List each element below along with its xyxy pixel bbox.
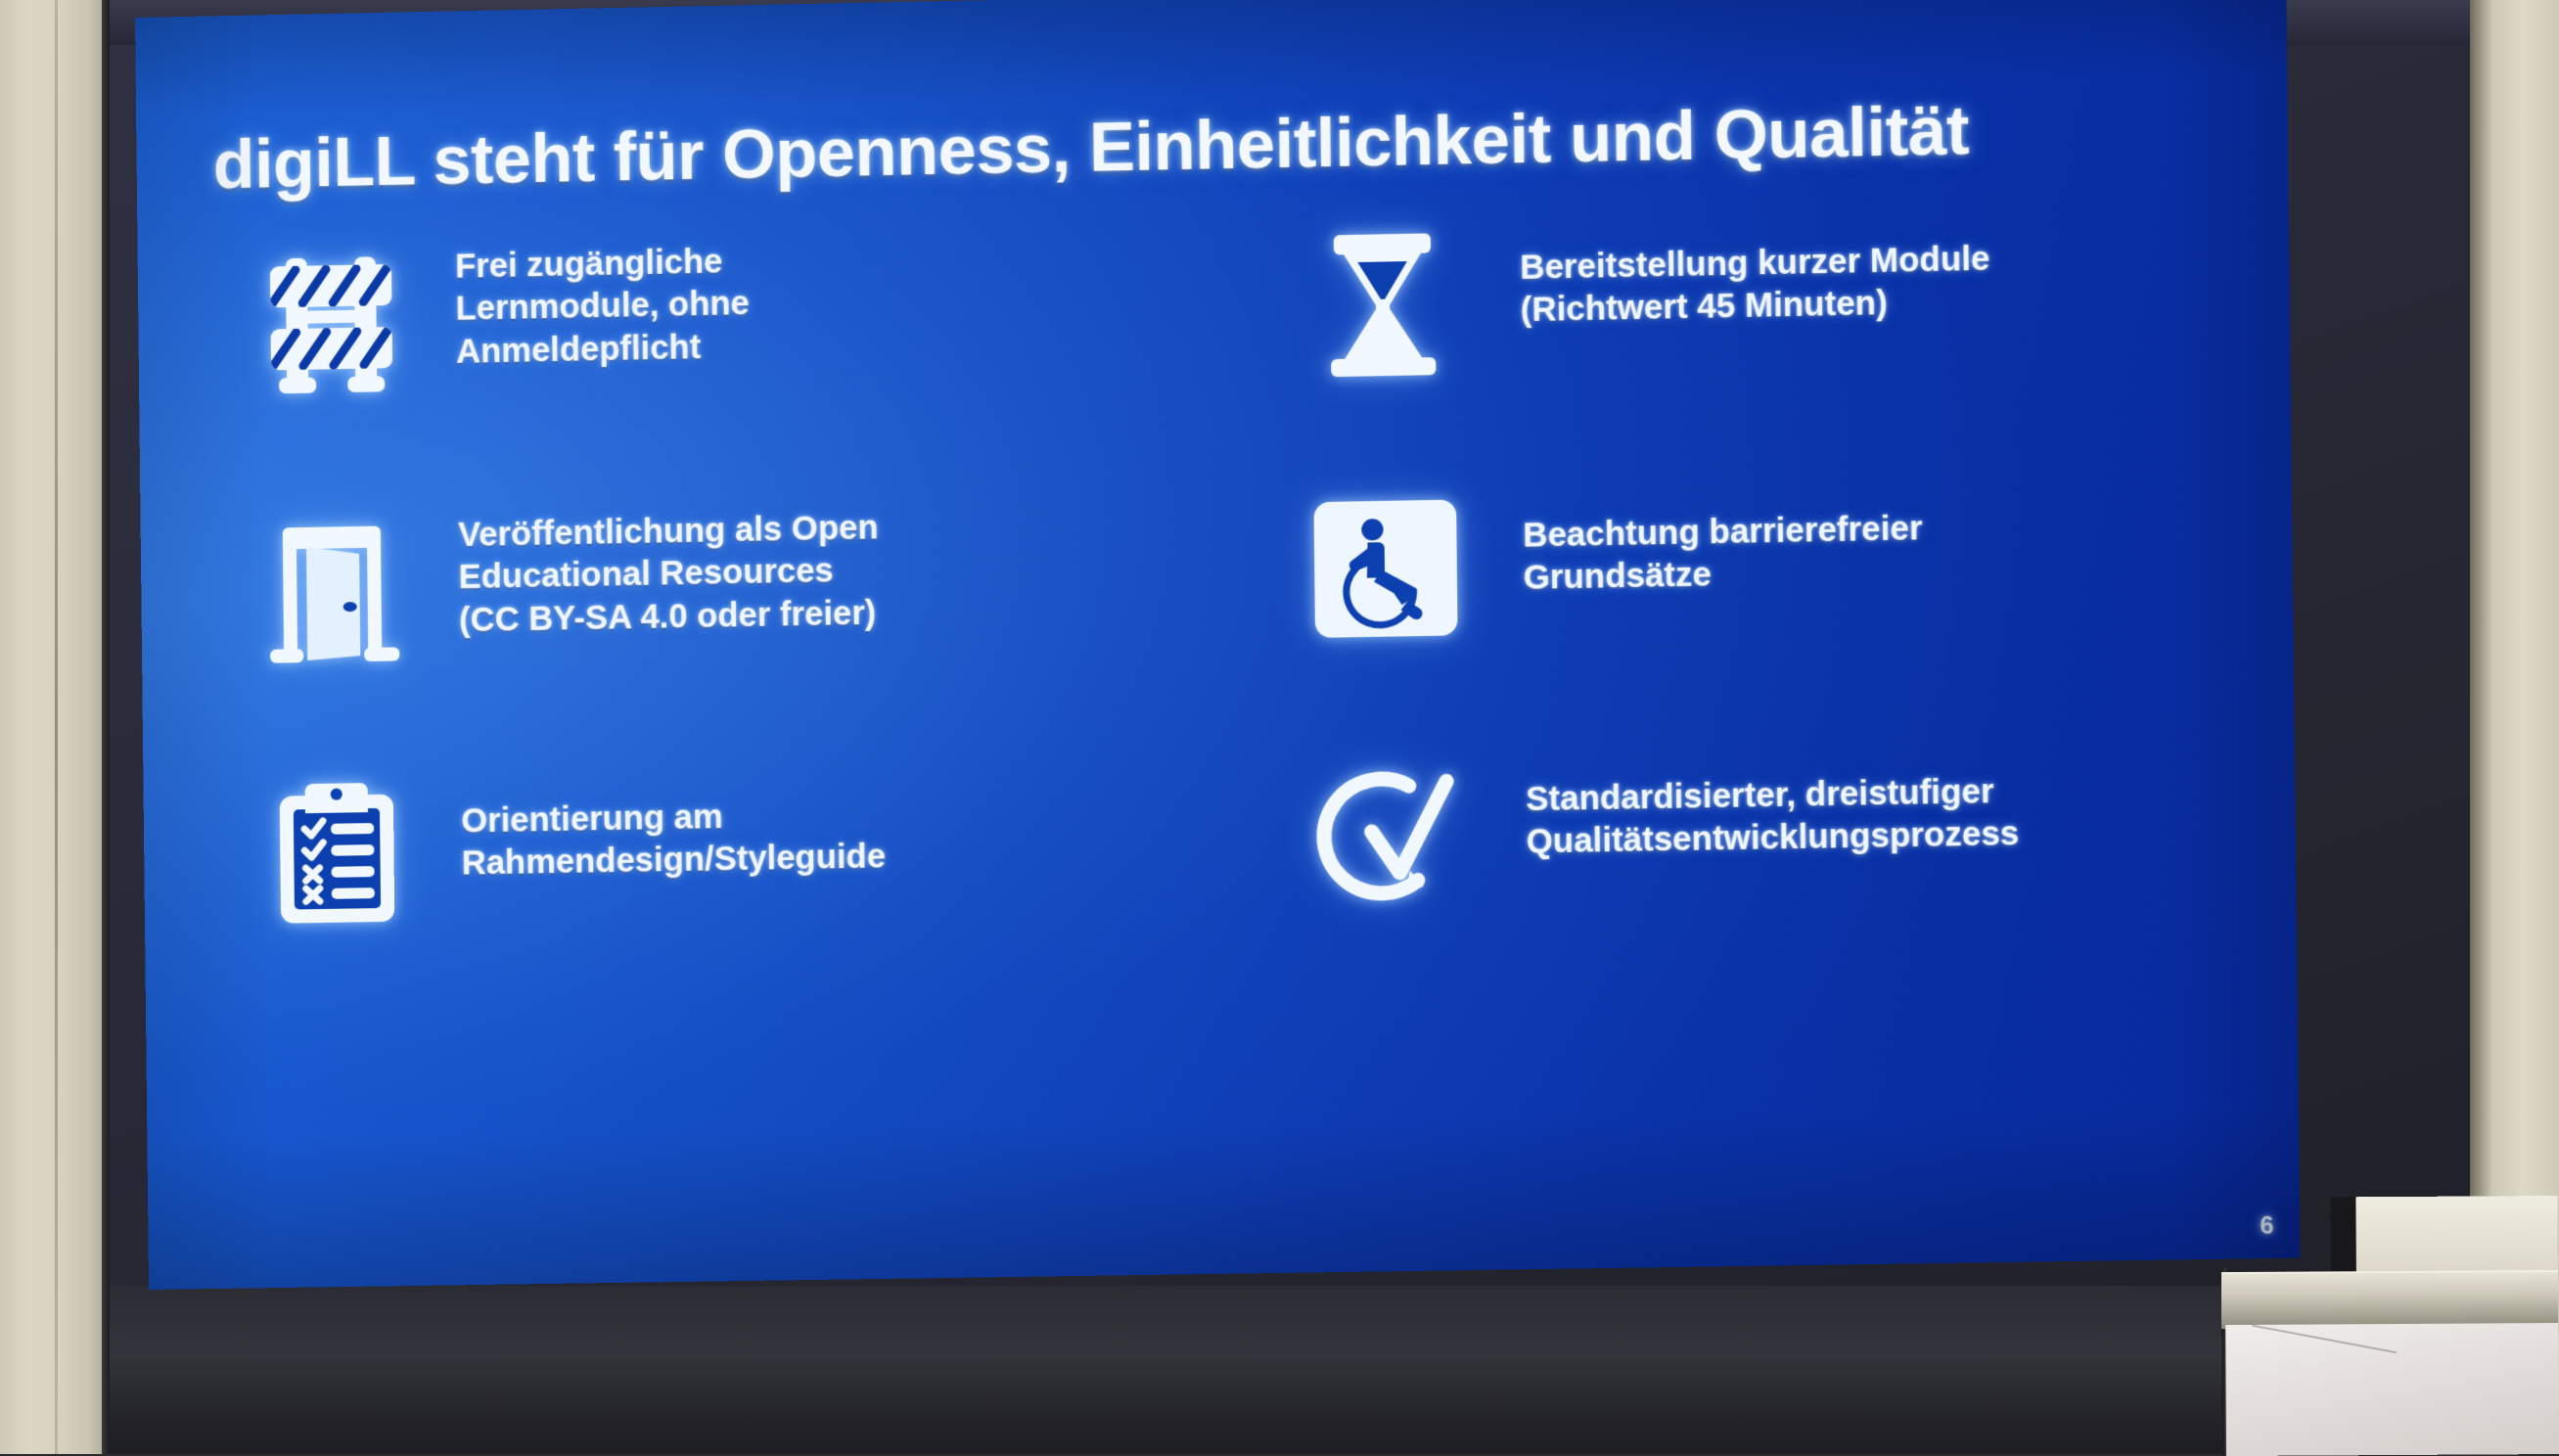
bullet-text: Frei zugängliche Lernmodule, ohne Anmeld… xyxy=(455,231,1244,374)
slide-page-number: 6 xyxy=(2260,1212,2273,1241)
bullet-column-right: Bereitstellung kurzer Module (Richtwert … xyxy=(1249,201,2308,921)
wall-left-panel xyxy=(0,0,102,1454)
construction-barrier-icon xyxy=(238,237,426,409)
wall-seam xyxy=(55,0,58,1454)
bullet-text: Veröffentlichung als Open Educational Re… xyxy=(458,500,1247,642)
clipboard-checklist-icon xyxy=(243,766,431,937)
flipchart-board xyxy=(2221,1266,2559,1456)
bullet-item-oer-license: Veröffentlichung als Open Educational Re… xyxy=(210,486,1255,673)
bullet-item-short-modules: Bereitstellung kurzer Module (Richtwert … xyxy=(1249,201,2303,390)
room-photo: digiLL steht für Openness, Einheitlichke… xyxy=(0,0,2559,1454)
wheelchair-accessibility-icon xyxy=(1291,482,1481,655)
bullet-item-accessibility: Beachtung barrierefreier Grundsätze xyxy=(1252,468,2306,656)
bullet-text: Beachtung barrierefreier Grundsätze xyxy=(1523,500,2358,601)
flipchart-paper-sheet xyxy=(2225,1323,2559,1456)
bullet-column-left: Frei zugängliche Lernmodule, ohne Anmeld… xyxy=(207,221,1257,938)
bullet-text: Bereitstellung kurzer Module (Richtwert … xyxy=(1520,231,2355,333)
bullet-text: Orientierung am Rahmendesign/Styleguide xyxy=(461,788,1250,886)
lower-shadow xyxy=(110,1356,2470,1454)
circular-arrow-check-icon xyxy=(1294,749,1484,921)
open-door-icon xyxy=(240,502,428,674)
slide-surface: digiLL steht für Openness, Einheitlichke… xyxy=(135,0,2301,1290)
flipchart-top-gap xyxy=(2330,1197,2355,1271)
flipchart-top-panel xyxy=(2355,1196,2557,1271)
bullet-item-free-access: Frei zugängliche Lernmodule, ohne Anmeld… xyxy=(207,221,1252,410)
bullet-item-styleguide: Orientierung am Rahmendesign/Styleguide xyxy=(213,752,1257,938)
flipchart-tray xyxy=(2221,1270,2558,1329)
bullet-text: Standardisierter, dreistufiger Qualitäts… xyxy=(1526,765,2361,865)
hourglass-icon xyxy=(1288,216,1478,389)
bullet-item-quality-process: Standardisierter, dreistufiger Qualitäts… xyxy=(1255,734,2308,921)
